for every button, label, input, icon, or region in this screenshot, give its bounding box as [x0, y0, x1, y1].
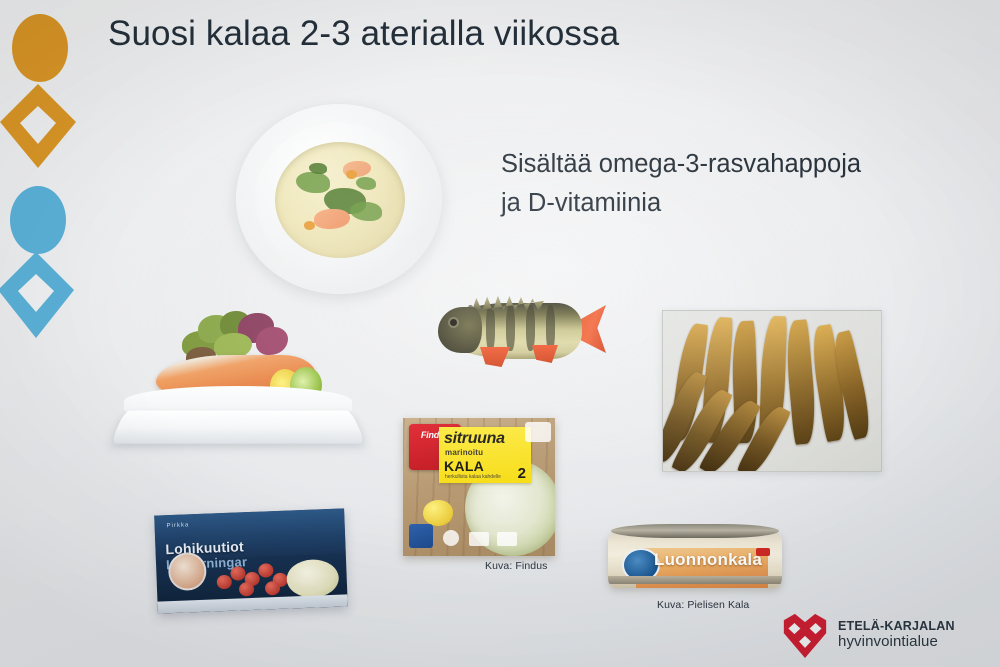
- lohi-serving-dish: [286, 559, 339, 599]
- lemon-prop: [423, 500, 453, 526]
- findus-nutrition-badge: [469, 532, 489, 546]
- orange-ellipse-icon: [12, 14, 68, 82]
- findus-heart-badge: [443, 530, 459, 546]
- findus-package-photo: Findus sitruuna marinoitu KALA herkullis…: [403, 418, 555, 556]
- perch-anal-fin: [532, 345, 558, 363]
- organisation-logo: ETELÄ-KARJALAN hyvinvointialue: [782, 612, 955, 658]
- body-line-2: ja D-vitamiinia: [501, 184, 861, 223]
- salmon-soup-photo: [236, 104, 442, 294]
- findus-eco-badge: [497, 532, 517, 546]
- findus-info-box: [409, 524, 433, 548]
- blue-pin-icon: [0, 250, 76, 340]
- can-body: Luonnonkala: [608, 532, 782, 588]
- perch-head: [438, 307, 482, 353]
- fried-vendace-photo: [662, 310, 882, 472]
- body-line-1: Sisältää omega-3-rasvahappoja: [501, 145, 861, 184]
- org-name-line-2: hyvinvointialue: [838, 633, 955, 650]
- perch-eye: [450, 319, 457, 326]
- salmon-plate-photo: [118, 303, 358, 448]
- org-name-line-1: ETELÄ-KARJALAN: [838, 620, 955, 634]
- perch-pelvic-fin: [480, 347, 510, 367]
- can-bottom-band: [608, 576, 782, 584]
- can-label-text: Luonnonkala: [654, 550, 762, 570]
- org-logo-text: ETELÄ-KARJALAN hyvinvointialue: [838, 620, 955, 651]
- heart-diamonds-logo-icon: [782, 612, 828, 658]
- lohi-package-edge: [157, 594, 347, 613]
- lohikuutiot-package-photo: Pirkka Lohikuutiot Laxtärningar: [154, 508, 348, 613]
- blue-ellipse-icon: [10, 186, 66, 254]
- can-lid: [611, 524, 779, 538]
- plate-base: [110, 410, 366, 443]
- findus-line-1: sitruuna: [444, 430, 531, 448]
- luonnonkala-can-photo: Luonnonkala: [608, 524, 782, 596]
- slide-body-text: Sisältää omega-3-rasvahappoja ja D-vitam…: [501, 145, 861, 223]
- can-red-tab: [756, 548, 770, 556]
- lohi-brand-text: Pirkka: [166, 522, 189, 529]
- presentation-slide: Suosi kalaa 2-3 aterialla viikossa Sisäl…: [0, 0, 1000, 667]
- findus-portions: 2: [518, 465, 526, 482]
- soup-surface: [275, 142, 405, 258]
- lohi-product-circle: [168, 552, 207, 591]
- findus-yellow-banner: sitruuna marinoitu KALA herkullista kala…: [439, 427, 531, 483]
- findus-line-2: marinoitu: [445, 448, 531, 457]
- caption-pielisen-kala: Kuva: Pielisen Kala: [657, 599, 749, 611]
- perch-fish-photo: [428, 285, 613, 382]
- orange-pin-icon: [0, 82, 78, 170]
- findus-corner-badge: [525, 422, 551, 442]
- slide-title: Suosi kalaa 2-3 aterialla viikossa: [108, 14, 619, 54]
- caption-findus: Kuva: Findus: [485, 560, 547, 572]
